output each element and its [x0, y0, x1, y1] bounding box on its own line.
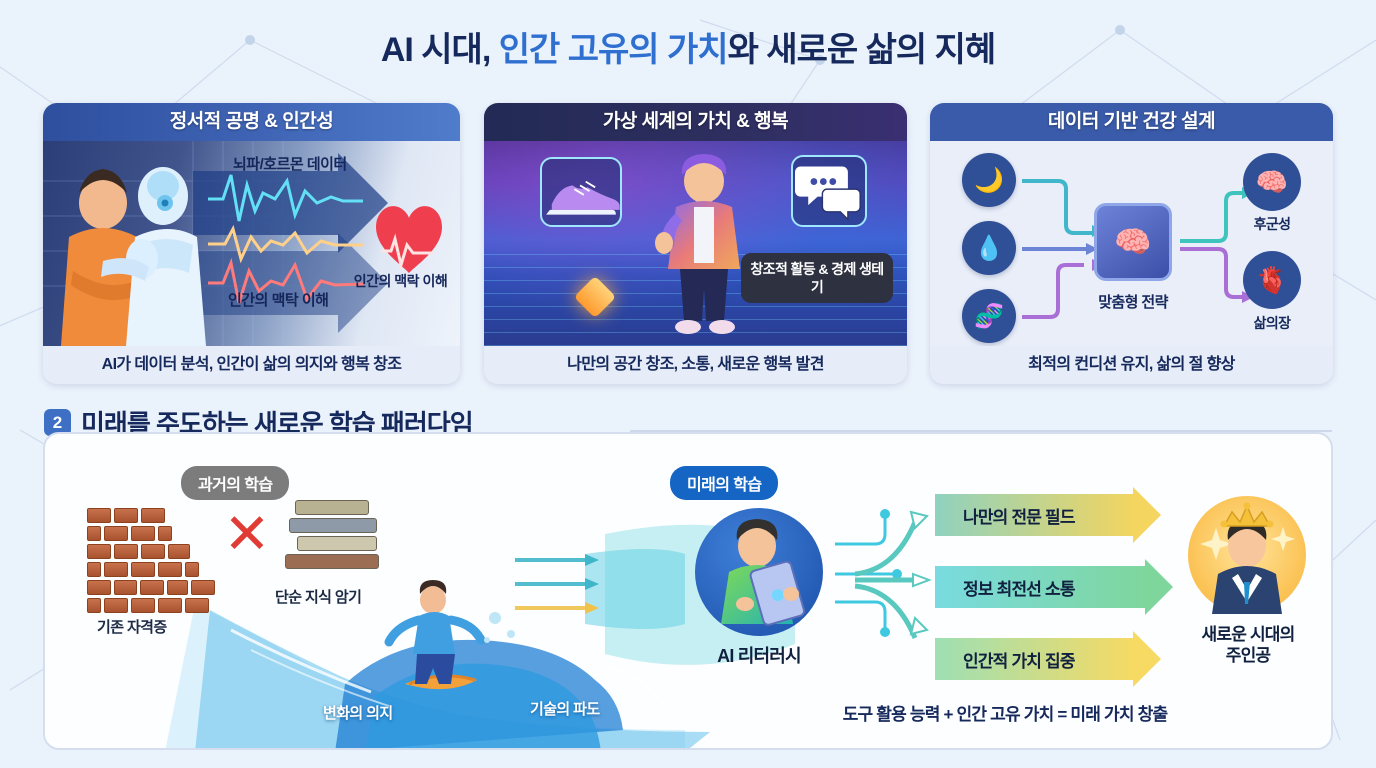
cross-out-icon: ✕: [220, 512, 274, 566]
outcome-arrow-3: 인간적 가치 집중: [935, 638, 1135, 680]
title-part2: 와 새로운 삶의 지혜: [728, 31, 996, 69]
arrow-head-icon: [1145, 559, 1173, 615]
avatar-person: [644, 147, 764, 337]
label-new-era-hero-line1: 새로운 시대의: [1163, 624, 1333, 645]
card-3-header: 데이터 기반 건강 설계: [930, 103, 1333, 141]
ai-literacy-avatar: [695, 508, 823, 636]
title-highlight: 인간 고유의 가치: [499, 31, 728, 69]
outcome-arrow-2-label: 정보 최전선 소통: [963, 575, 1075, 600]
card-1-label-right: 인간의 맥락 이해: [348, 273, 453, 291]
outcome-arrow-1-label: 나만의 전문 필드: [963, 503, 1075, 528]
sleep-moon-icon: 🌙: [962, 153, 1016, 207]
label-rote-memorization: 단순 지식 암기: [275, 586, 361, 607]
learning-paradigm-panel: 과거의 학습 미래의 학습 ✕ 기존 자격증 단순 지식 암기 변화의 의지 기…: [43, 432, 1333, 750]
label-technology-wave: 기술의 파도: [530, 698, 600, 719]
ai-chip-icon: 🧠: [1094, 203, 1172, 281]
card-2-badge: 창조적 활등 & 경제 생테기: [741, 253, 893, 303]
brick-wall-icon: [87, 508, 215, 604]
label-ai-literacy: AI 리터러시: [675, 642, 843, 668]
arrow-head-icon: [1133, 487, 1161, 543]
card-health-design[interactable]: 데이터 기반 건강 설계 🌙 💧 🧬 🧠 맞춤형 전략 🧠 🫀 후군성: [930, 103, 1333, 384]
king-person-icon: [1188, 496, 1306, 614]
card-3-output-label-2: 삶의장: [1226, 313, 1318, 333]
outcome-arrow-2: 정보 최전선 소통: [935, 566, 1147, 608]
card-virtual-world[interactable]: 가상 세계의 가치 & 행복: [484, 103, 907, 384]
sneaker-icon: [542, 159, 620, 225]
pill-future-learning: 미래의 학습: [670, 466, 778, 500]
card-1-label-top: 뇌파/호르몬 데이터: [233, 153, 347, 174]
card-2-artwork: 창조적 활등 & 경제 생테기: [484, 141, 907, 346]
infographic-canvas: AI 시대, 인간 고유의 가치와 새로운 삶의 지혜 정서적 공명 & 인간성: [0, 0, 1376, 768]
label-new-era-hero: 새로운 시대의 주인공: [1163, 624, 1333, 667]
card-3-artwork: 🌙 💧 🧬 🧠 맞춤형 전략 🧠 🫀 후군성 삶의장: [930, 141, 1333, 346]
label-new-era-hero-line2: 주인공: [1163, 645, 1333, 666]
title-part1: AI 시대,: [381, 31, 499, 69]
card-3-caption: 최적의 컨디션 유지, 삶의 절 향상: [930, 346, 1333, 384]
chat-bubbles-icon: [793, 157, 865, 225]
glucose-meter-icon: 💧: [962, 221, 1016, 275]
card-1-label-bottom: 인간의 맥탁 이해: [228, 289, 328, 310]
label-existing-certificates: 기존 자격증: [97, 616, 167, 637]
outcome-arrow-1: 나만의 전문 필드: [935, 494, 1135, 536]
value-formula: 도구 활용 능력 + 인간 고유 가치 = 미래 가치 창출: [745, 700, 1265, 725]
chat-bubble-panel: [791, 155, 867, 227]
sneaker-panel: [540, 157, 622, 227]
pill-past-learning: 과거의 학습: [181, 466, 289, 500]
card-2-header: 가상 세계의 가치 & 행복: [484, 103, 907, 141]
card-1-header: 정서적 공명 & 인간성: [43, 103, 460, 141]
body-icon: 🫀: [1243, 251, 1301, 309]
card-1-caption: AI가 데이터 분석, 인간이 삶의 의지와 행복 창조: [43, 346, 460, 384]
card-2-caption: 나만의 공간 창조, 소통, 새로운 행복 발견: [484, 346, 907, 384]
card-emotional-resonance[interactable]: 정서적 공명 & 인간성: [43, 103, 460, 384]
card-1-artwork: 뇌파/호르몬 데이터 인간의 맥탁 이해 인간의 맥락 이해: [43, 141, 460, 346]
dna-icon: 🧬: [962, 289, 1016, 343]
outcome-arrow-3-label: 인간적 가치 집중: [963, 647, 1075, 672]
card-3-output-label-1: 후군성: [1226, 214, 1318, 234]
brain-head-icon: 🧠: [1243, 153, 1301, 211]
crowned-hero-avatar: [1188, 496, 1306, 614]
page-title: AI 시대, 인간 고유의 가치와 새로운 삶의 지혜: [0, 22, 1376, 71]
card-3-chip-label: 맞춤형 전략: [1076, 291, 1190, 312]
label-will-to-change: 변화의 의지: [323, 702, 393, 723]
person-with-tablet-icon: [695, 508, 823, 636]
arrow-head-icon: [1133, 631, 1161, 687]
book-stack-icon: [285, 500, 383, 574]
